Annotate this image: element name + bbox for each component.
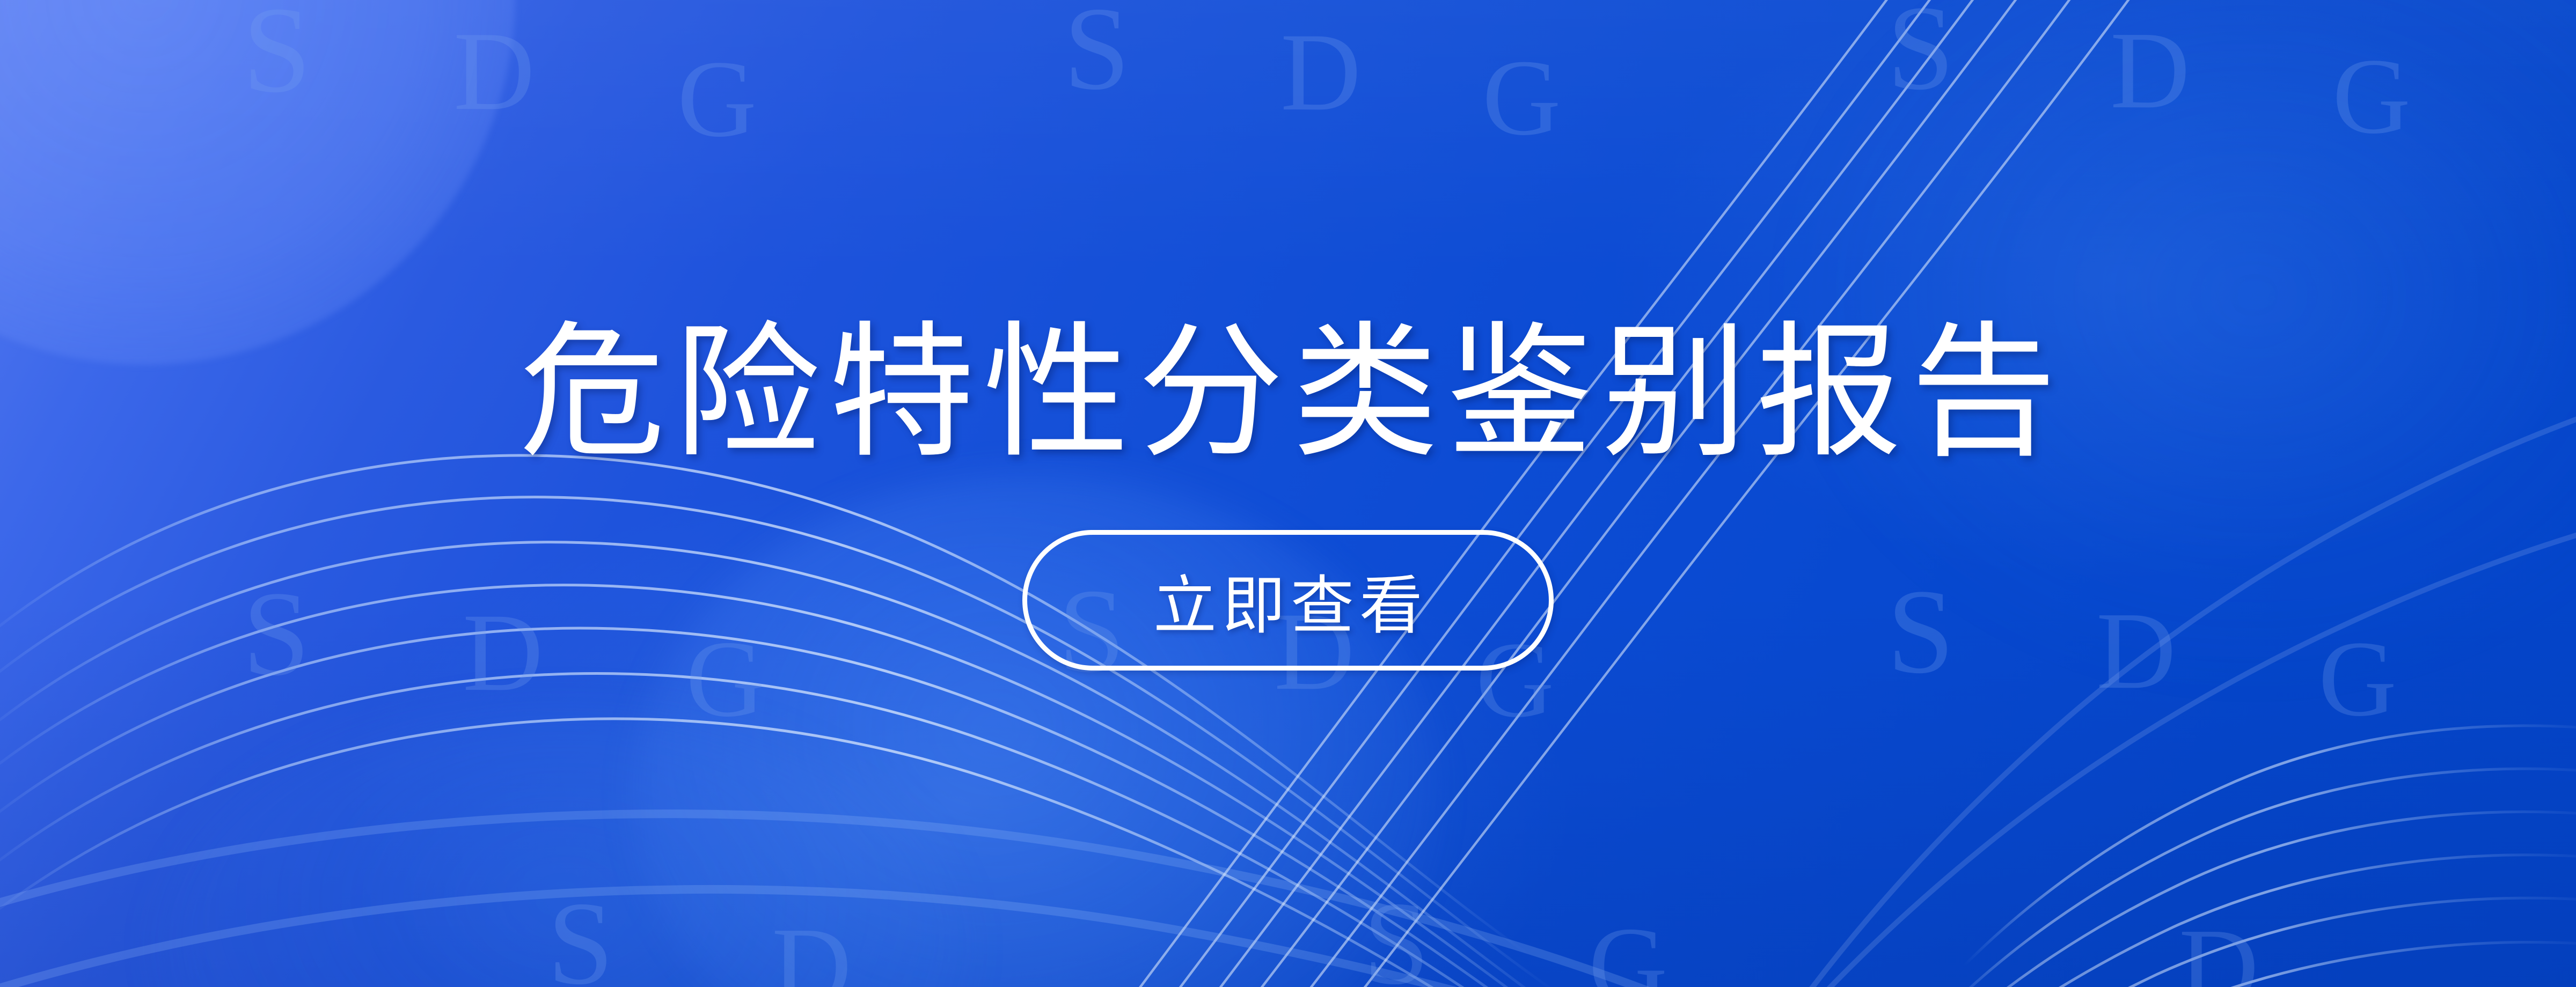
page-title: 危险特性分类鉴别报告 (511, 316, 2065, 470)
cta-wrapper: 立即查看 (1022, 530, 1554, 671)
view-now-button[interactable]: 立即查看 (1022, 530, 1554, 671)
view-now-button-label: 立即查看 (1148, 554, 1428, 646)
banner-content: 危险特性分类鉴别报告 立即查看 (0, 0, 2576, 987)
promo-banner: S D G S D G S D G S D G S D G S D G S D … (0, 0, 2576, 987)
